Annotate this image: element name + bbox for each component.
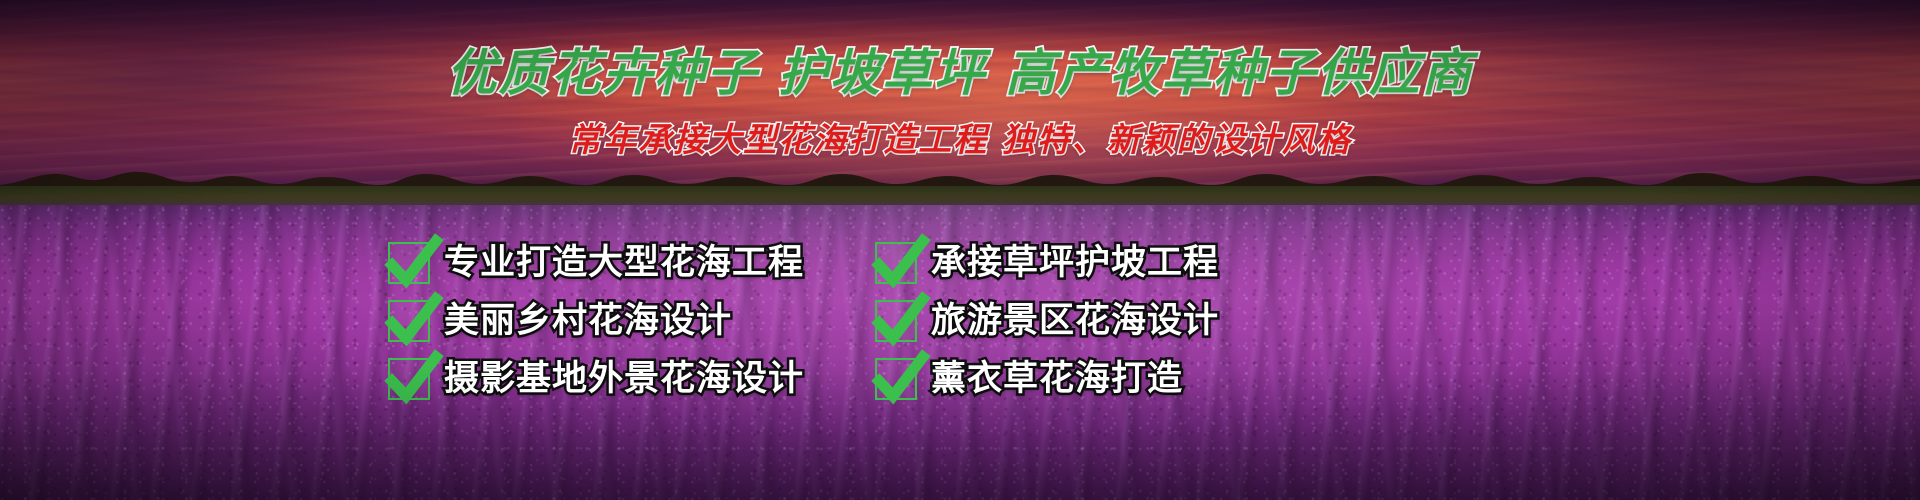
feature-label: 美丽乡村花海设计 <box>444 300 732 342</box>
feature-item: 薰衣草花海打造 <box>859 354 1329 404</box>
feature-label: 旅游景区花海设计 <box>931 300 1219 342</box>
feature-item: 美丽乡村花海设计 <box>388 296 858 346</box>
check-mark-icon <box>388 242 430 284</box>
check-mark-icon <box>388 300 430 342</box>
check-mark-icon <box>875 300 917 342</box>
check-mark-icon <box>875 242 917 284</box>
feature-label: 承接草坪护坡工程 <box>931 242 1219 284</box>
check-mark-icon <box>875 358 917 400</box>
feature-label: 专业打造大型花海工程 <box>444 242 804 284</box>
feature-label: 薰衣草花海打造 <box>931 358 1183 400</box>
feature-item: 专业打造大型花海工程 <box>388 238 858 288</box>
check-mark-icon <box>388 358 430 400</box>
promo-banner: 优质花卉种子 护坡草坪 高产牧草种子供应商 常年承接大型花海打造工程 独特、新颖… <box>0 0 1920 500</box>
banner-headline: 优质花卉种子 护坡草坪 高产牧草种子供应商 <box>0 42 1920 104</box>
feature-checklist: 专业打造大型花海工程 承接草坪护坡工程 美丽乡村花海设计 旅游景区花海设计 <box>388 238 1548 404</box>
feature-item: 摄影基地外景花海设计 <box>388 354 858 404</box>
banner-subtitle: 常年承接大型花海打造工程 独特、新颖的设计风格 <box>0 118 1920 162</box>
feature-label: 摄影基地外景花海设计 <box>444 358 804 400</box>
feature-item: 旅游景区花海设计 <box>859 296 1329 346</box>
feature-item: 承接草坪护坡工程 <box>859 238 1329 288</box>
